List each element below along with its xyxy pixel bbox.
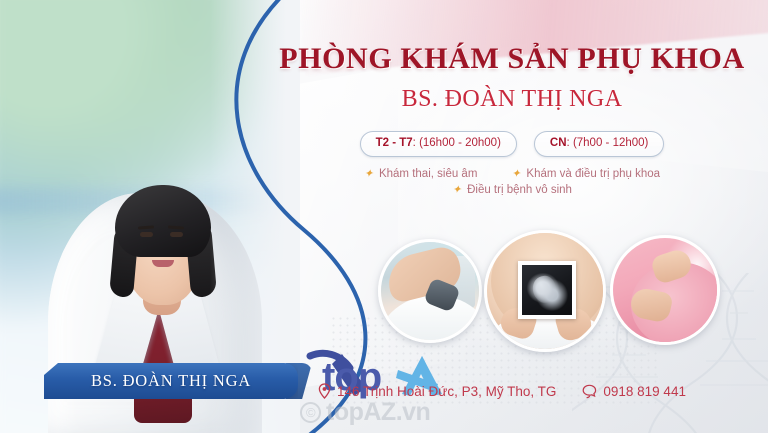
- site-watermark: © topAZ.vn: [300, 398, 430, 427]
- schedule-hours-sunday: (7h00 - 12h00): [573, 137, 648, 149]
- doctor-eye-left: [140, 232, 153, 237]
- address-item[interactable]: 146 Trịnh Hoài Đức, P3, Mỹ Tho, TG: [318, 383, 556, 399]
- fetus-scan-image: [522, 265, 572, 315]
- schedule-pill-group: T2 - T7: (16h00 - 20h00) CN: (7h00 - 12h…: [272, 131, 752, 157]
- ultrasound-photo-print: [518, 261, 576, 319]
- doctor-name-label: BS. ĐOÀN THỊ NGA: [91, 371, 251, 391]
- phone-chat-icon: [582, 384, 597, 399]
- service-item-3: ✦ Điều trị bệnh vô sinh: [452, 184, 572, 196]
- schedule-days-sunday: CN: [550, 137, 567, 149]
- doctor-name-banner: BS. ĐOÀN THỊ NGA: [44, 363, 298, 399]
- page-title: PHÒNG KHÁM SẢN PHỤ KHOA: [272, 42, 752, 76]
- service-row-2: ✦ Điều trị bệnh vô sinh: [272, 184, 752, 196]
- schedule-days-weekday: T2 - T7: [376, 137, 413, 149]
- sparkle-icon: ✦: [452, 186, 461, 195]
- schedule-separator-weekday: :: [413, 137, 416, 149]
- sparkle-icon: ✦: [511, 170, 520, 179]
- service-item-2-label: Khám và điều trị phụ khoa: [526, 168, 660, 180]
- phone-item[interactable]: 0918 819 441: [582, 384, 686, 399]
- doctor-eye-right: [170, 232, 183, 237]
- sparkle-icon: ✦: [364, 170, 373, 179]
- contact-bar: 146 Trịnh Hoài Đức, P3, Mỹ Tho, TG 0918 …: [318, 383, 686, 399]
- doctor-mouth: [152, 260, 174, 267]
- pregnant-belly-scan-photo: [484, 230, 606, 352]
- service-list: ✦ Khám thai, siêu âm ✦ Khám và điều trị …: [272, 168, 752, 200]
- schedule-pill-weekday: T2 - T7: (16h00 - 20h00): [360, 131, 517, 157]
- schedule-hours-weekday: (16h00 - 20h00): [419, 137, 501, 149]
- service-row-1: ✦ Khám thai, siêu âm ✦ Khám và điều trị …: [272, 168, 752, 180]
- clinic-banner: PHÒNG KHÁM SẢN PHỤ KHOA BS. ĐOÀN THỊ NGA…: [0, 0, 768, 433]
- service-item-1: ✦ Khám thai, siêu âm: [364, 168, 477, 180]
- location-pin-icon: [318, 383, 331, 399]
- ultrasound-scan-photo: [378, 239, 482, 343]
- service-item-3-label: Điều trị bệnh vô sinh: [467, 184, 572, 196]
- pregnant-woman-pink-photo: [610, 235, 720, 345]
- schedule-separator-sunday: :: [567, 137, 570, 149]
- service-item-1-label: Khám thai, siêu âm: [379, 168, 477, 180]
- address-label: 146 Trịnh Hoài Đức, P3, Mỹ Tho, TG: [337, 384, 556, 399]
- watermark-label: topAZ.vn: [326, 398, 430, 427]
- schedule-pill-sunday: CN: (7h00 - 12h00): [534, 131, 664, 157]
- photo-circle-group: [378, 231, 718, 351]
- page-subtitle: BS. ĐOÀN THỊ NGA: [272, 86, 752, 113]
- service-item-2: ✦ Khám và điều trị phụ khoa: [511, 168, 660, 180]
- copyright-icon: ©: [300, 402, 321, 423]
- phone-label: 0918 819 441: [603, 384, 686, 399]
